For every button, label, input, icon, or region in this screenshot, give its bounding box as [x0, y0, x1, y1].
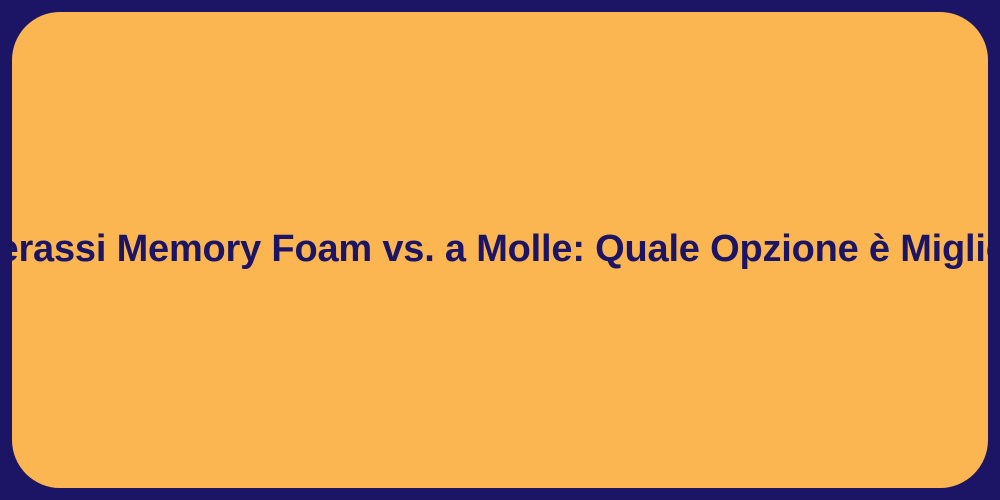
banner-card: Materassi Memory Foam vs. a Molle: Quale…	[12, 12, 988, 488]
banner-title: Materassi Memory Foam vs. a Molle: Quale…	[0, 228, 1000, 272]
banner-frame: Materassi Memory Foam vs. a Molle: Quale…	[0, 0, 1000, 500]
